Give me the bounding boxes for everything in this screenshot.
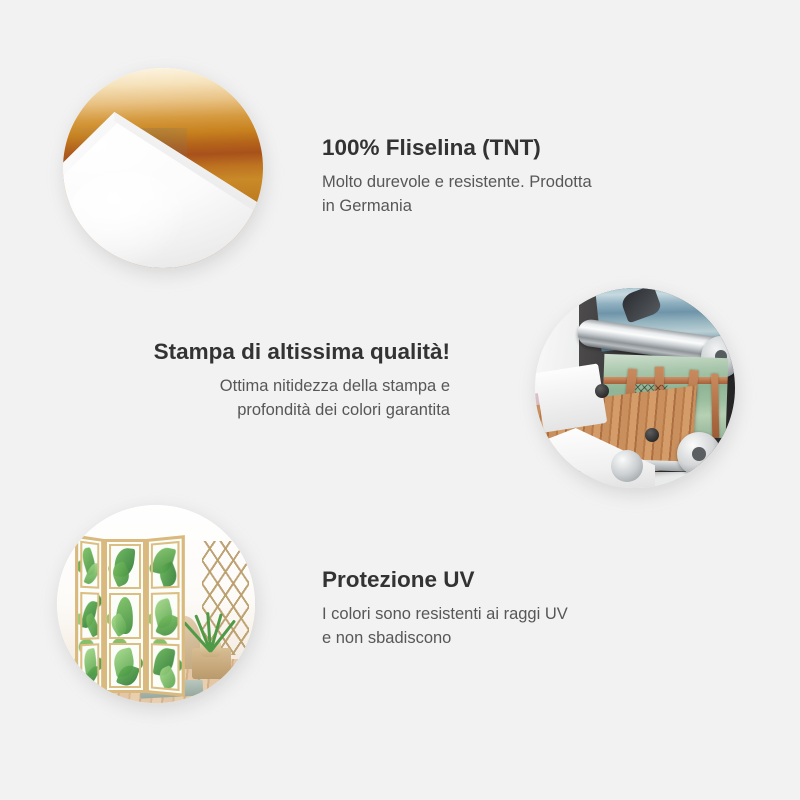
- printing-machine-image: [535, 288, 735, 488]
- wallpaper-roll-image-clip: [63, 68, 263, 268]
- feature-stampa-text: Stampa di altissima qualità! Ottima niti…: [100, 338, 450, 422]
- printer-knob: [645, 428, 659, 442]
- tropical-room-divider-screen: [75, 539, 184, 693]
- feature-stampa-description-line-1: Ottima nitidezza della stampa e: [100, 375, 450, 398]
- printer-small-wheel: [611, 450, 643, 482]
- potted-palm-plant: [192, 612, 228, 652]
- divider-cell: [150, 541, 179, 589]
- divider-cell: [80, 643, 99, 692]
- divider-cell: [80, 540, 99, 589]
- printing-machine-image-clip: [535, 288, 735, 488]
- feature-protezione-uv-title: Protezione UV: [322, 566, 682, 594]
- divider-cell: [109, 544, 140, 589]
- printer-white-guide: [535, 363, 607, 432]
- divider-cell: [150, 592, 179, 639]
- pier-post: [711, 374, 720, 438]
- divider-panel: [104, 539, 145, 693]
- printer-side-wheel: [677, 432, 721, 476]
- feature-fliselina-description-line-2: in Germania: [322, 195, 682, 218]
- divider-panel: [146, 535, 185, 697]
- feature-protezione-uv-text: Protezione UV I colori sono resistenti a…: [322, 566, 682, 650]
- printer-knob: [595, 384, 609, 398]
- feature-fliselina-text: 100% Fliselina (TNT) Molto durevole e re…: [322, 134, 682, 218]
- feature-stampa-title: Stampa di altissima qualità!: [100, 338, 450, 366]
- wallpaper-curl-highlight: [67, 172, 183, 264]
- divider-cell: [150, 643, 179, 691]
- wallpaper-roll-peeling-image: [63, 68, 263, 268]
- product-features-panel: 100% Fliselina (TNT) Molto durevole e re…: [0, 0, 800, 800]
- divider-cell: [109, 643, 140, 688]
- divider-cell: [109, 593, 140, 638]
- feature-stampa-description-line-2: profondità dei colori garantita: [100, 399, 450, 422]
- divider-panel: [75, 534, 104, 697]
- feature-fliselina-description-line-1: Molto durevole e resistente. Prodotta: [322, 171, 682, 194]
- tropical-room-divider-image: [57, 505, 255, 703]
- feature-protezione-uv-description-line-1: I colori sono resistenti ai raggi UV: [322, 603, 682, 626]
- tropical-room-image-clip: [57, 505, 255, 703]
- feature-protezione-uv-description-line-2: e non sbadiscono: [322, 627, 682, 650]
- divider-cell: [80, 592, 99, 640]
- feature-fliselina-title: 100% Fliselina (TNT): [322, 134, 682, 162]
- pier-rail: [604, 377, 728, 384]
